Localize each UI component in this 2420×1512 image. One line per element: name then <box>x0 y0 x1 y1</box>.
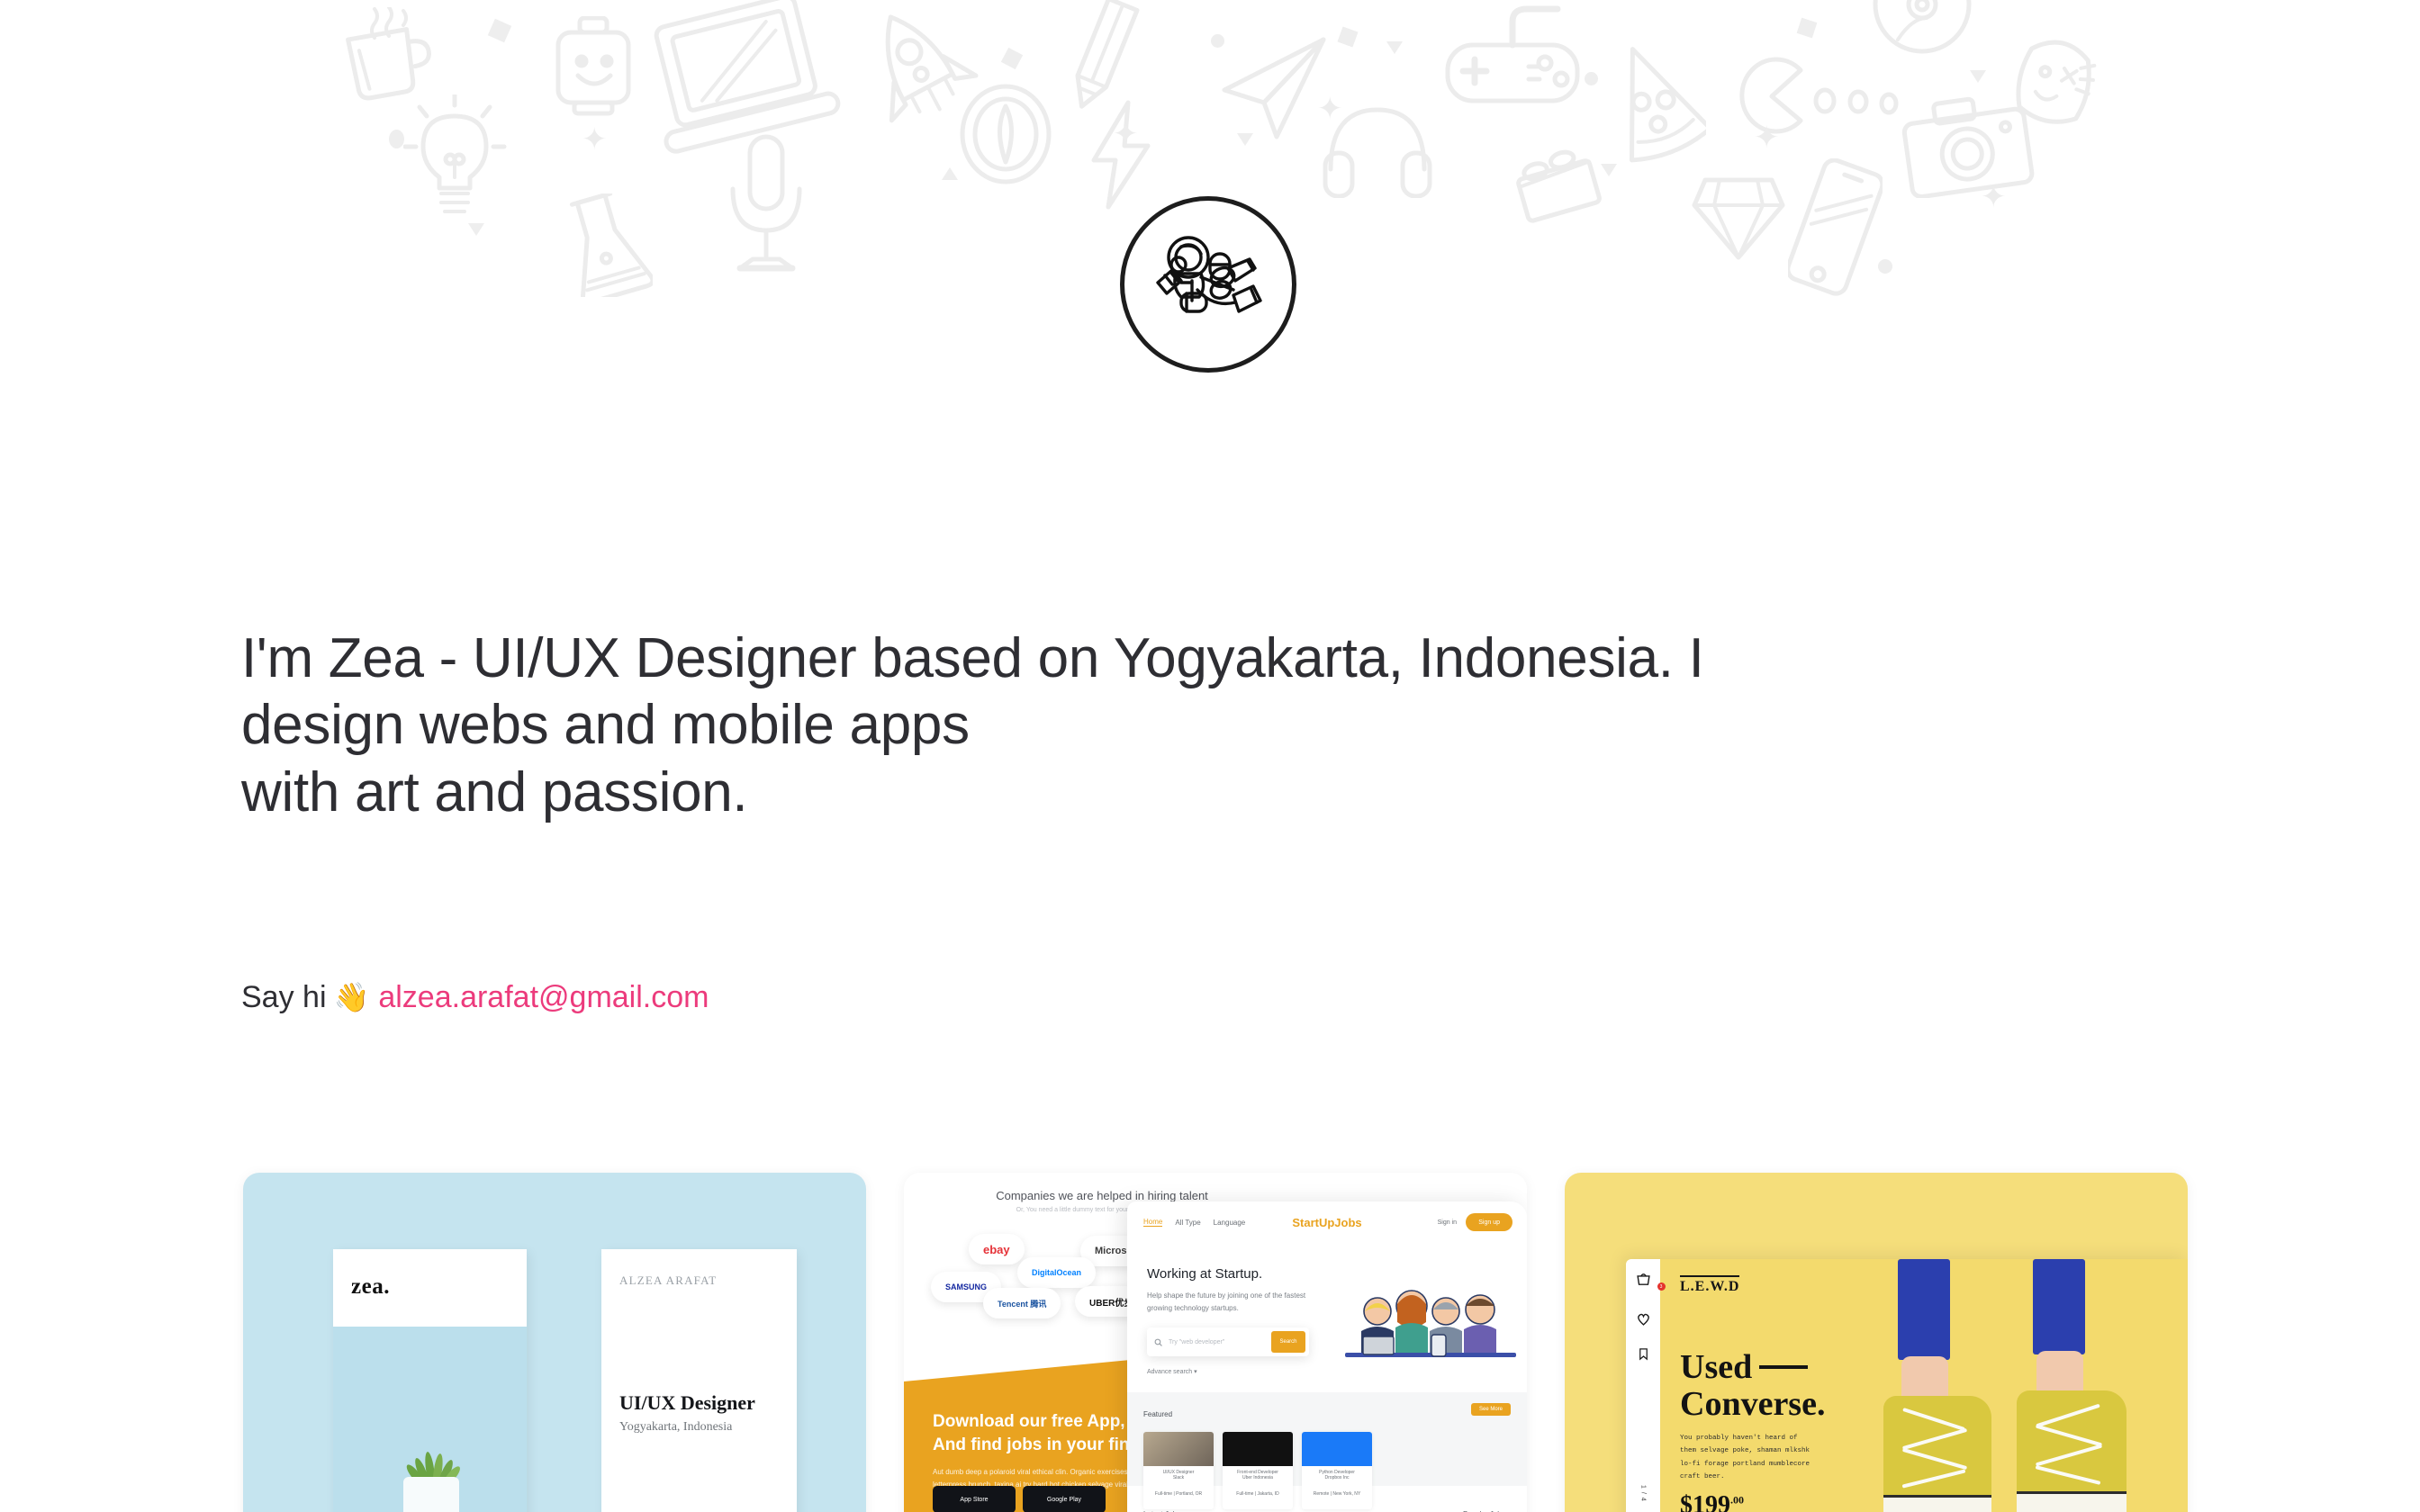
brand-logo-text: zea. <box>351 1274 390 1300</box>
email-link[interactable]: alzea.arafat@gmail.com <box>378 979 709 1016</box>
job-search-input[interactable]: Try "web developer" Search <box>1147 1327 1309 1356</box>
laptop-icon <box>645 0 843 162</box>
compass-icon <box>956 83 1055 186</box>
lego-head-icon <box>549 16 639 120</box>
job-thumbnail <box>1143 1432 1214 1466</box>
triangle-fleck <box>468 223 484 236</box>
plant-pot <box>403 1477 459 1512</box>
job-card[interactable]: Front-end Developer Uber Indonesia Full-… <box>1223 1432 1293 1509</box>
pacman-dot-2-icon <box>1846 87 1871 116</box>
project-card-lewd-shop[interactable]: 3 1 / 4 L.E.W.D Used Converse. <box>1565 1173 2188 1512</box>
companies-headline: Companies we are helped in hiring talent <box>904 1189 1300 1202</box>
shop-browser-window: 3 1 / 4 L.E.W.D Used Converse. <box>1626 1259 2188 1512</box>
headphones-icon <box>1322 99 1434 198</box>
converse-product-photo <box>1865 1259 2163 1512</box>
brand-role: UI/UX Designer <box>619 1391 755 1415</box>
brand-sheet-card: ALZEA ARAFAT UI/UX Designer Yogyakarta, … <box>601 1249 797 1512</box>
advance-search-toggle[interactable]: Advance search ▾ <box>1147 1368 1197 1375</box>
triangle-fleck <box>1237 133 1253 146</box>
right-sole <box>2017 1491 2127 1512</box>
carousel-pager: 1 / 4 <box>1640 1485 1647 1502</box>
job-meta: Remote | New York, NY <box>1302 1491 1372 1497</box>
star-fleck: ✦ <box>1317 94 1343 124</box>
star-fleck: ✦ <box>1981 182 2007 212</box>
brand-photo <box>333 1327 527 1512</box>
product-description: You probably haven't heard of them selva… <box>1680 1432 1815 1483</box>
product-price: $199.00 <box>1680 1491 1744 1512</box>
product-title-line-1: Used <box>1680 1348 1752 1386</box>
appstore-badge[interactable]: App Store <box>933 1486 1016 1512</box>
dot-fleck <box>1585 72 1598 85</box>
search-placeholder: Try "web developer" <box>1169 1339 1224 1345</box>
search-button[interactable]: Search <box>1271 1331 1305 1353</box>
astronaut-badge-logo <box>1145 230 1271 338</box>
microphone-icon <box>717 133 816 286</box>
logo-pill-tencent: Tencent 腾讯 <box>983 1288 1061 1318</box>
logo-pill-digitalocean: DigitalOcean <box>1017 1257 1096 1288</box>
project-card-startupjobs[interactable]: Companies we are helped in hiring talent… <box>904 1173 1527 1512</box>
headline-line-2: design webs and mobile apps <box>241 692 2042 759</box>
dot-fleck <box>1878 259 1892 274</box>
sign-in-link[interactable]: Sign in <box>1438 1219 1457 1226</box>
heart-icon[interactable] <box>1636 1311 1651 1327</box>
monster-face-icon <box>2008 31 2102 130</box>
contact-line: Say hi 👋 alzea.arafat@gmail.com <box>241 979 709 1016</box>
brand-sheet-logo: zea. <box>333 1249 527 1512</box>
left-leg <box>1898 1259 1950 1360</box>
succulent-plant-photo <box>389 1434 472 1512</box>
startupjobs-brand: StartUpJobs <box>1292 1216 1361 1229</box>
pacman-dot-3-icon <box>1877 90 1901 117</box>
say-hi-label: Say hi <box>241 979 327 1016</box>
shop-side-rail: 3 1 / 4 <box>1626 1259 1660 1512</box>
project-card-grid: zea. ALZE <box>243 1173 2179 1512</box>
cart-icon-wrap[interactable]: 3 <box>1636 1272 1651 1291</box>
square-fleck <box>1337 26 1358 47</box>
pacman-dot-1-icon <box>1812 86 1838 115</box>
star-fleck: ✦ <box>1113 119 1139 149</box>
lego-brick-icon <box>1509 144 1608 234</box>
headline-line-1: I'm Zea - UI/UX Designer based on Yogyak… <box>241 625 2042 692</box>
bookmark-icon[interactable] <box>1637 1346 1650 1362</box>
shop-brand-logo: L.E.W.D <box>1680 1275 1739 1295</box>
dot-fleck <box>1211 34 1224 48</box>
job-company: Uber Indonesia <box>1223 1475 1293 1480</box>
job-meta: Full-time | Portland, OR <box>1143 1491 1214 1497</box>
chevron-down-icon: ▾ <box>1194 1369 1197 1375</box>
cd-disc-icon <box>1871 0 1974 57</box>
job-company: Dropbox Inc <box>1302 1475 1372 1480</box>
brand-name-eyebrow: ALZEA ARAFAT <box>619 1273 717 1288</box>
job-thumbnail <box>1302 1432 1372 1466</box>
product-title: Used Converse. <box>1680 1349 1825 1423</box>
lightbulb-icon <box>403 94 507 216</box>
project-card-branding[interactable]: zea. ALZE <box>243 1173 866 1512</box>
nav-item-language[interactable]: Language <box>1214 1219 1246 1227</box>
nav-item-alltype[interactable]: All Type <box>1175 1219 1200 1227</box>
square-fleck <box>488 19 511 42</box>
triangle-fleck <box>1386 41 1403 54</box>
game-controller-icon <box>1440 4 1585 112</box>
logo-pill-ebay: ebay <box>969 1234 1025 1264</box>
jobs-navbar: Home All Type Language StartUpJobs Sign … <box>1127 1201 1527 1243</box>
page-title: I'm Zea - UI/UX Designer based on Yogyak… <box>241 625 2042 826</box>
star-fleck: ✦ <box>1754 122 1780 153</box>
rocket-icon <box>864 5 981 149</box>
featured-job-cards: UI/UX Designer Slack Full-time | Portlan… <box>1143 1432 1511 1509</box>
smartphone-icon <box>1788 158 1883 297</box>
site-logo[interactable] <box>1120 196 1296 373</box>
cart-count-badge: 3 <box>1657 1282 1666 1291</box>
square-fleck <box>1001 48 1023 69</box>
right-leg <box>2033 1259 2085 1354</box>
see-more-button[interactable]: See More <box>1471 1403 1511 1416</box>
pizza-slice-icon <box>1603 41 1706 163</box>
waving-hand-icon: 👋 <box>334 980 370 1014</box>
triangle-fleck <box>1970 70 1986 83</box>
sign-up-button[interactable]: Sign up <box>1466 1213 1512 1231</box>
flask-icon <box>558 193 653 297</box>
brand-location: Yogyakarta, Indonesia <box>619 1420 732 1435</box>
triangle-fleck <box>942 167 958 180</box>
product-title-line-2: Converse. <box>1680 1385 1825 1423</box>
pacman-icon <box>1738 56 1810 137</box>
left-sole <box>1883 1495 1991 1512</box>
dot-fleck <box>389 130 404 148</box>
price-cents: .00 <box>1730 1494 1744 1507</box>
jobs-hero-subtitle: Help shape the future by joining one of … <box>1147 1290 1309 1314</box>
featured-jobs-section: Featured See More UI/UX Designer Slack F… <box>1127 1392 1527 1486</box>
featured-label: Featured <box>1143 1410 1172 1418</box>
portfolio-page: ✦ ✦ ✦ ✦ ✦ <box>0 0 2420 1512</box>
job-card[interactable]: Python Developer Dropbox Inc Remote | Ne… <box>1302 1432 1372 1509</box>
job-card[interactable]: UI/UX Designer Slack Full-time | Portlan… <box>1143 1432 1214 1509</box>
headline-line-3: with art and passion. <box>241 760 2042 826</box>
cart-icon <box>1636 1272 1651 1287</box>
job-company: Slack <box>1143 1475 1214 1480</box>
lightning-bolt-icon <box>1085 99 1157 211</box>
square-fleck <box>1797 18 1818 39</box>
diamond-icon <box>1689 167 1788 266</box>
googleplay-badge[interactable]: Google Play <box>1023 1486 1106 1512</box>
paper-plane-icon <box>1217 34 1330 142</box>
job-thumbnail <box>1223 1432 1293 1466</box>
search-icon <box>1154 1338 1162 1346</box>
pencil-icon <box>1050 0 1149 126</box>
logo-circle-border <box>1120 196 1296 373</box>
jobs-site-panel: Home All Type Language StartUpJobs Sign … <box>1127 1201 1527 1512</box>
job-meta: Full-time | Jakarta, ID <box>1223 1491 1293 1497</box>
jobs-hero-title: Working at Startup. <box>1147 1266 1262 1282</box>
coffee-mug-icon <box>335 7 443 106</box>
camera-icon <box>1900 94 2035 198</box>
nav-item-home[interactable]: Home <box>1143 1218 1162 1227</box>
team-illustration <box>1345 1281 1516 1369</box>
star-fleck: ✦ <box>582 124 608 155</box>
triangle-fleck <box>1601 164 1617 176</box>
title-rule <box>1759 1365 1808 1369</box>
